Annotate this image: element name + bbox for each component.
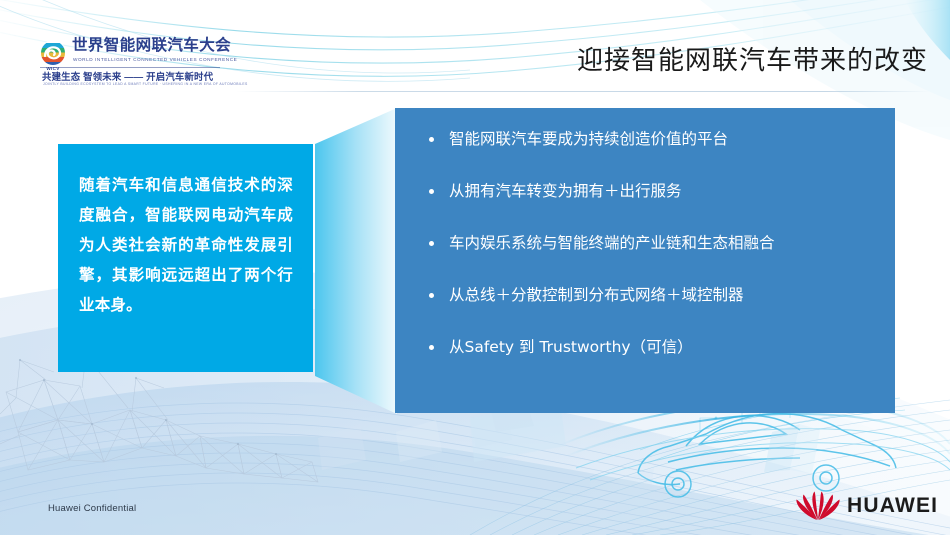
conference-slogan-en: JOINTLY BUILDING ECOSYSTEM TO LEAD A SMA…	[43, 82, 248, 86]
header-divider	[236, 91, 930, 92]
logo-divider	[68, 37, 70, 65]
bullet-dot-icon	[429, 293, 434, 298]
presentation-slide: WICV 世界智能网联汽车大会 WORLD INTELLIGENT CONNEC…	[0, 0, 950, 535]
confidential-label: Huawei Confidential	[48, 503, 136, 514]
conference-name-en: WORLD INTELLIGENT CONNECTED VEHICLES CON…	[73, 57, 237, 62]
list-item: 从拥有汽车转变为拥有＋出行服务	[413, 180, 883, 202]
bullet-text: 从拥有汽车转变为拥有＋出行服务	[449, 182, 682, 200]
list-item: 智能网联汽车要成为持续创造价值的平台	[413, 128, 883, 150]
bullet-text: 从总线＋分散控制到分布式网络＋域控制器	[449, 286, 744, 304]
list-item: 从总线＋分散控制到分布式网络＋域控制器	[413, 284, 883, 306]
conference-logo: WICV 世界智能网联汽车大会 WORLD INTELLIGENT CONNEC…	[40, 36, 220, 92]
wicv-emblem-icon	[40, 40, 66, 66]
callout-box: 随着汽车和信息通信技术的深度融合，智能联网电动汽车成为人类社会新的革命性发展引擎…	[58, 144, 313, 372]
huawei-wordmark: HUAWEI	[847, 494, 938, 518]
bullet-text: 智能网联汽车要成为持续创造价值的平台	[449, 130, 728, 148]
huawei-logo: HUAWEI	[795, 490, 930, 524]
connector-arrow	[315, 108, 397, 414]
slide-title: 迎接智能网联汽车带来的改变	[577, 40, 928, 77]
bullet-text: 从Safety 到 Trustworthy（可信）	[449, 338, 693, 356]
callout-text: 随着汽车和信息通信技术的深度融合，智能联网电动汽车成为人类社会新的革命性发展引擎…	[79, 170, 293, 320]
list-item: 车内娱乐系统与智能终端的产业链和生态相融合	[413, 232, 883, 254]
list-item: 从Safety 到 Trustworthy（可信）	[413, 336, 883, 358]
bullet-dot-icon	[429, 345, 434, 350]
huawei-flower-icon	[795, 491, 841, 521]
bullet-dot-icon	[429, 189, 434, 194]
conference-name-cn: 世界智能网联汽车大会	[72, 38, 231, 54]
conference-slogan-cn: 共建生态 智领未来 —— 开启汽车新时代	[42, 69, 213, 83]
bullet-list: 智能网联汽车要成为持续创造价值的平台 从拥有汽车转变为拥有＋出行服务 车内娱乐系…	[413, 128, 883, 358]
bullet-dot-icon	[429, 137, 434, 142]
bullet-dot-icon	[429, 241, 434, 246]
bullets-panel: 智能网联汽车要成为持续创造价值的平台 从拥有汽车转变为拥有＋出行服务 车内娱乐系…	[395, 108, 895, 413]
bullet-text: 车内娱乐系统与智能终端的产业链和生态相融合	[449, 234, 775, 252]
